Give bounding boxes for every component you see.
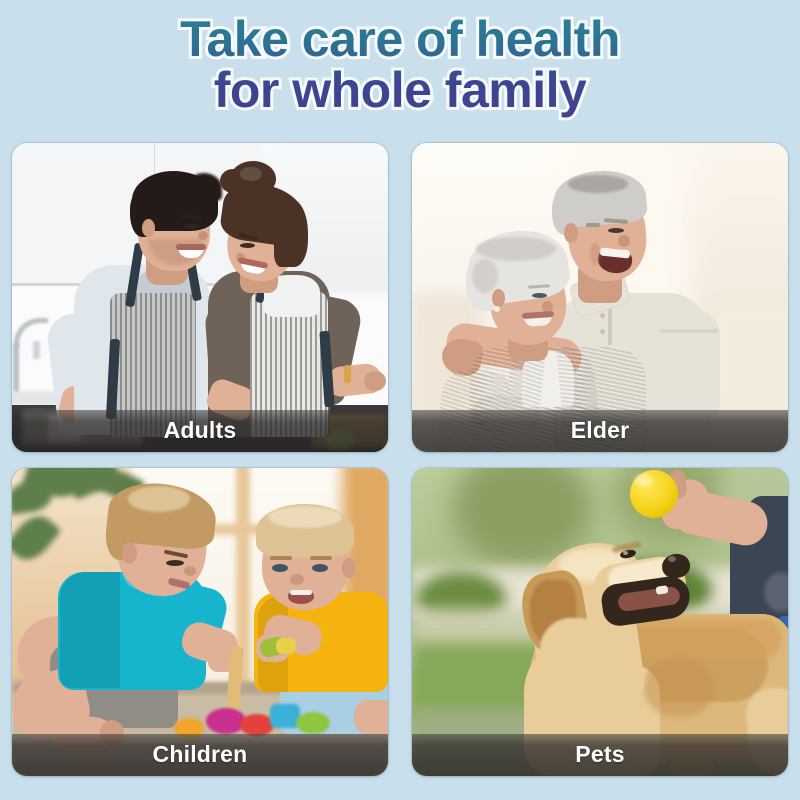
photo-pets — [412, 468, 788, 776]
infographic-root: Take care of health Take care of health … — [0, 0, 800, 800]
photo-children — [12, 468, 388, 776]
page-title-line-1-fill: Take care of health — [180, 11, 620, 67]
card-label-adults: Adults — [164, 419, 237, 443]
card-adults[interactable]: Adults — [12, 143, 388, 452]
card-label-bar-elder: Elder — [412, 410, 788, 452]
page-title-line-2: for whole family for whole family — [0, 65, 800, 116]
photo-elder — [412, 143, 788, 452]
page-title-line-2-fill: for whole family — [214, 62, 587, 118]
card-label-bar-adults: Adults — [12, 410, 388, 452]
card-label-elder: Elder — [571, 419, 630, 443]
page-title-line-1: Take care of health Take care of health — [0, 14, 800, 65]
card-label-bar-children: Children — [12, 734, 388, 776]
card-label-bar-pets: Pets — [412, 734, 788, 776]
card-elder[interactable]: Elder — [412, 143, 788, 452]
card-label-pets: Pets — [575, 743, 624, 767]
category-card-grid: Adults — [12, 143, 788, 776]
photo-adults — [12, 143, 388, 452]
card-children[interactable]: Children — [12, 468, 388, 776]
card-pets[interactable]: Pets — [412, 468, 788, 776]
card-label-children: Children — [153, 743, 248, 767]
page-title: Take care of health Take care of health … — [0, 14, 800, 116]
